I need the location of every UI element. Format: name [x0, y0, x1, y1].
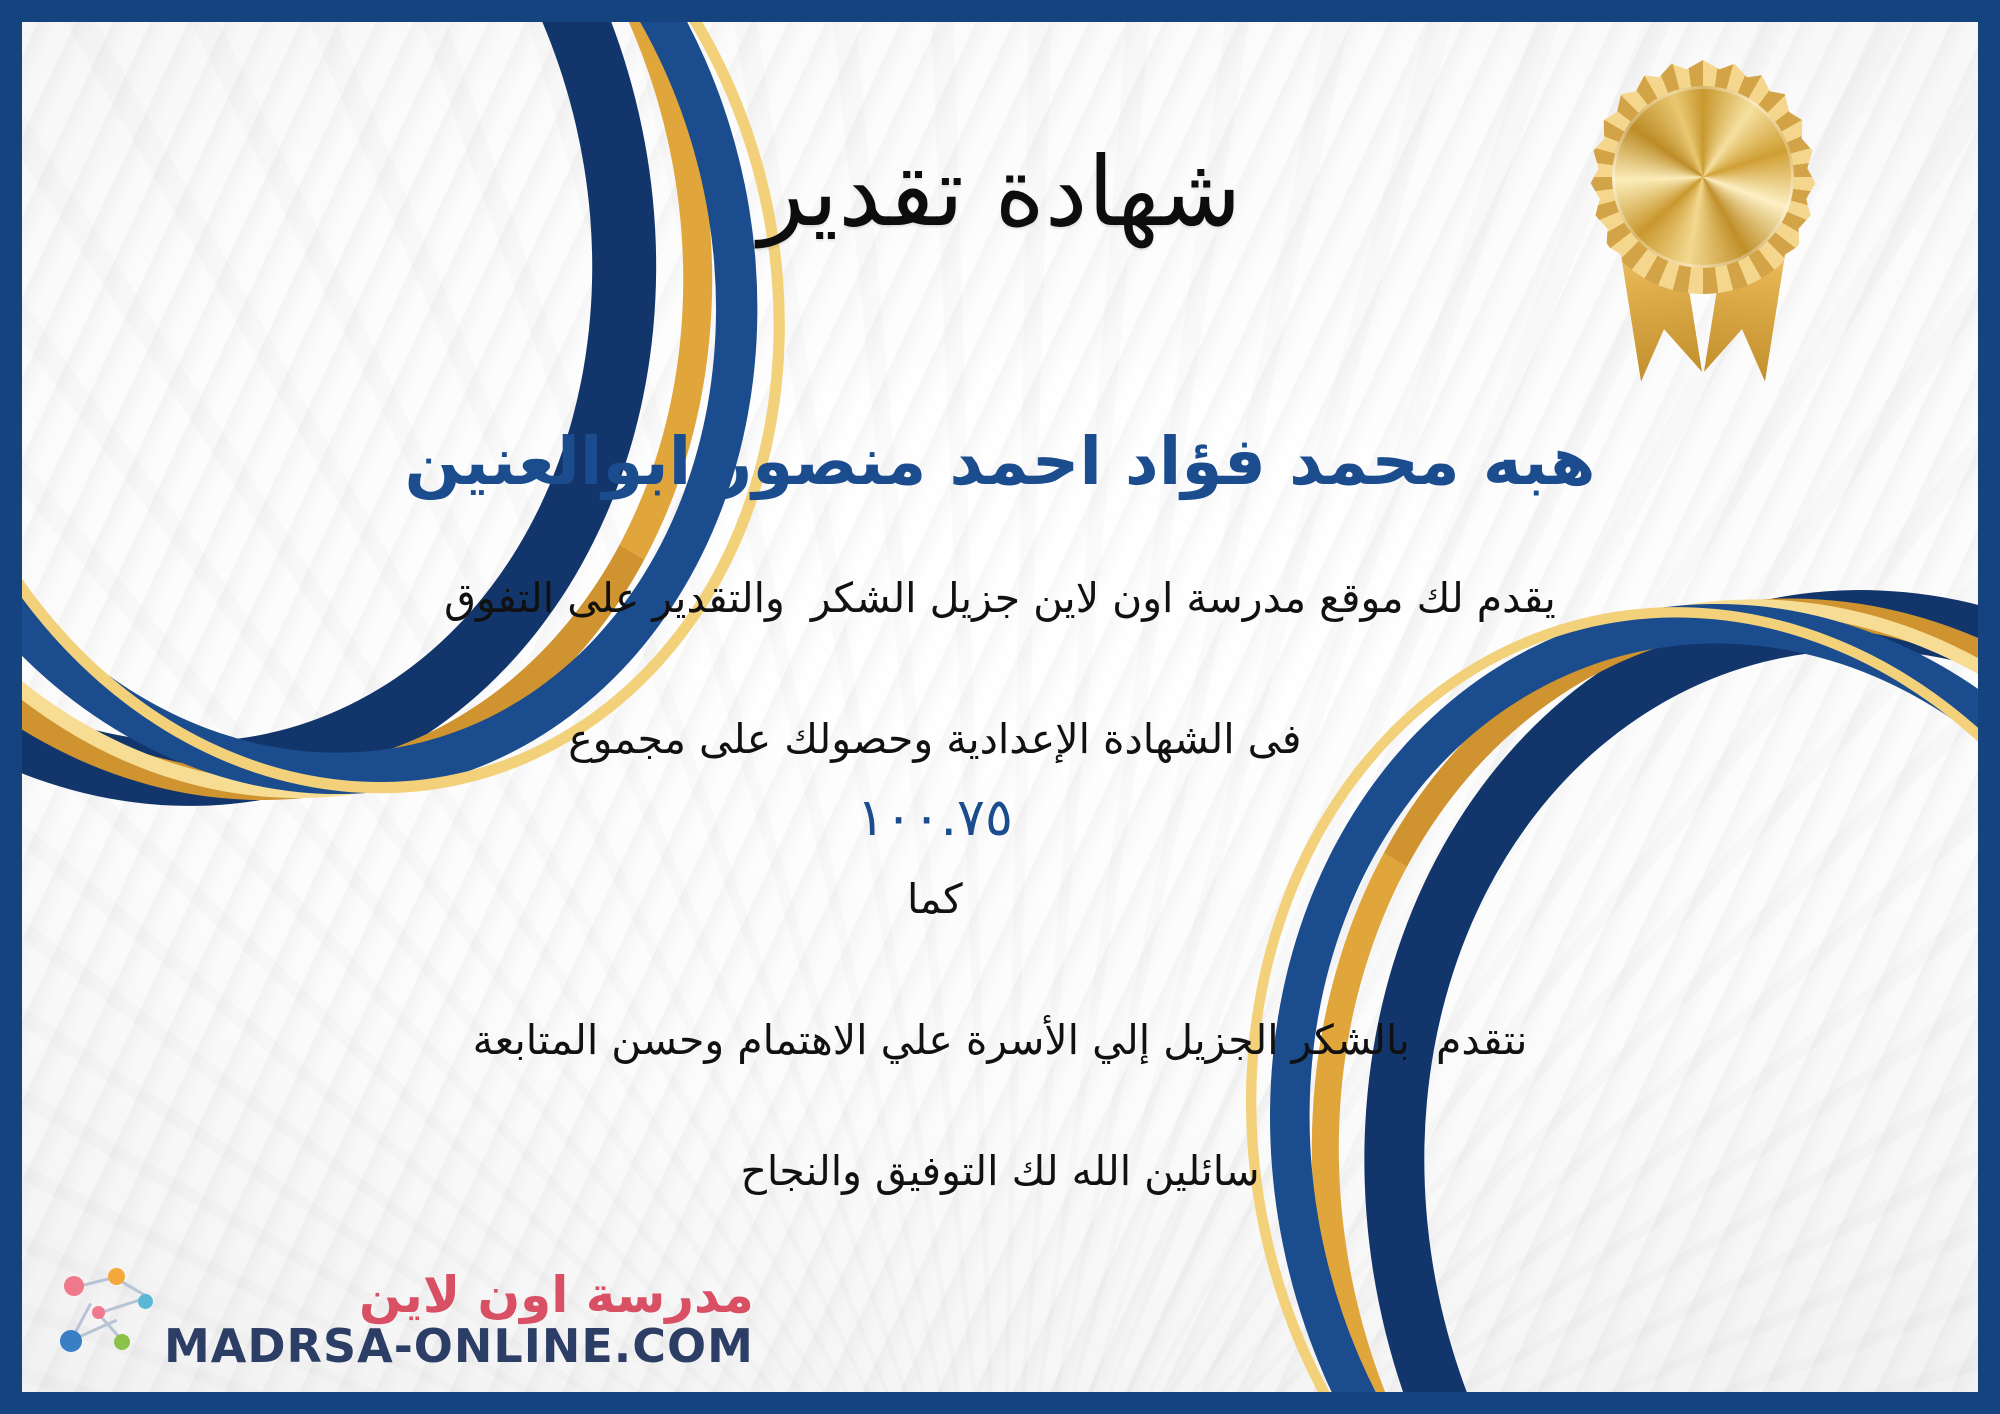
brand-arabic-name: مدرسة اون لاين	[359, 1269, 754, 1322]
certificate-title: شهادة تقدير	[759, 140, 1242, 246]
logo-node-cyan	[138, 1294, 153, 1309]
network-nodes-icon	[58, 1268, 154, 1364]
logo-node-pink	[64, 1276, 84, 1296]
recipient-name: هبه محمد فؤاد احمد منصور ابوالعنين	[405, 422, 1596, 501]
logo-node-green	[114, 1334, 130, 1350]
closing-wish-text: سائلين الله لك التوفيق والنجاح	[740, 1147, 1259, 1195]
logo-node-orange	[108, 1268, 125, 1285]
body-line-2-prefix: فى الشهادة الإعدادية وحصولك على مجموع	[568, 715, 1301, 763]
certificate-inner-area: شهادة تقدير هبه محمد فؤاد احمد منصور ابو…	[22, 22, 1978, 1392]
body-line-3: نتقدم بالشكر الجزيل إلي الأسرة علي الاهت…	[350, 1005, 1650, 1076]
brand-website-url: MADRSA-ONLINE.COM	[164, 1322, 754, 1370]
certificate-content: شهادة تقدير هبه محمد فؤاد احمد منصور ابو…	[22, 22, 1978, 1392]
body-line-2-suffix: كما	[907, 875, 963, 923]
brand-logo-text: مدرسة اون لاين MADRSA-ONLINE.COM	[164, 1269, 754, 1370]
logo-node-blue	[60, 1330, 82, 1352]
brand-logo[interactable]: مدرسة اون لاين MADRSA-ONLINE.COM	[58, 1268, 754, 1370]
certificate-page: شهادة تقدير هبه محمد فؤاد احمد منصور ابو…	[0, 0, 2000, 1414]
body-line-2: فى الشهادة الإعدادية وحصولك على مجموع ١٠…	[350, 633, 1650, 1005]
certificate-body-text: يقدم لك موقع مدرسة اون لاين جزيل الشكر و…	[350, 563, 1650, 1076]
total-score-value: ١٠٠.٧٥	[857, 788, 1013, 848]
body-line-1: يقدم لك موقع مدرسة اون لاين جزيل الشكر و…	[350, 563, 1650, 634]
logo-node-pink-small	[92, 1306, 105, 1319]
